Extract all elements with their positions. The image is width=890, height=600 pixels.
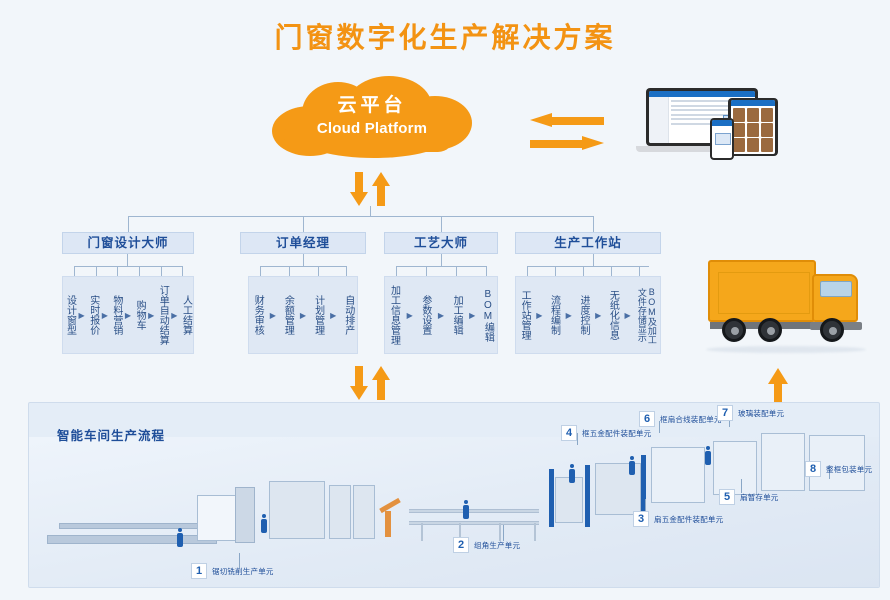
callout-1[interactable]: 1 锯切铣削生产单元 <box>191 563 274 579</box>
separator-icon: ▶ <box>125 277 131 353</box>
connector-line <box>128 216 129 232</box>
module-item[interactable]: 物料营销 <box>111 277 122 353</box>
cloud-platform-node: 云平台 Cloud Platform <box>272 76 472 158</box>
glass-rack <box>713 441 757 495</box>
machine-unit <box>353 485 375 539</box>
worker-figure <box>261 519 267 533</box>
workshop-title: 智能车间生产流程 <box>57 425 165 444</box>
arrow-left-icon <box>530 113 604 128</box>
app-topbar <box>712 120 732 126</box>
module-item[interactable]: 设计窗型 <box>65 277 76 353</box>
separator-icon: ▶ <box>300 277 306 353</box>
module-item[interactable]: 订单自动结算 <box>157 277 168 353</box>
separator-icon: ▶ <box>148 277 154 353</box>
arrow-right-icon <box>530 136 604 151</box>
callout-caption: 框五金配件装配单元 <box>582 428 651 439</box>
connector-line <box>441 216 442 232</box>
callout-7[interactable]: 7 玻璃装配单元 <box>717 405 784 421</box>
machine-unit <box>555 477 583 523</box>
module-title: 门窗设计大师 <box>62 232 194 254</box>
station-post <box>549 469 554 527</box>
machine-unit <box>235 487 255 543</box>
robot-arm <box>385 511 391 537</box>
callout-number: 6 <box>639 411 655 427</box>
module-items: 加工信息管理 ▶ 参数设置 ▶ 加工编辑 ▶ BOM编辑 <box>384 276 498 354</box>
arrow-up-icon <box>372 172 390 206</box>
callout-caption: 组角生产单元 <box>474 540 520 551</box>
separator-icon: ▶ <box>438 277 444 353</box>
module-item-line: 文件存储显示 <box>637 288 647 342</box>
worker-figure <box>463 505 469 519</box>
truck-wheel <box>820 318 844 342</box>
callout-caption: 整框包装单元 <box>826 464 872 475</box>
truck-window <box>820 281 852 297</box>
truck-wheel <box>722 318 746 342</box>
tablet-device <box>728 98 778 156</box>
separator-icon: ▶ <box>469 277 475 353</box>
conveyor <box>409 521 539 525</box>
callout-number: 5 <box>719 489 735 505</box>
callout-5[interactable]: 5 扇暂存单元 <box>719 489 779 505</box>
glass-rack <box>651 447 705 503</box>
connector-line <box>74 266 182 267</box>
separator-icon: ▶ <box>595 277 601 353</box>
module-items: 设计窗型 ▶ 实时报价 ▶ 物料营销 ▶ 购物车 ▶ 订单自动结算 ▶ 人工结算 <box>62 276 194 354</box>
separator-icon: ▶ <box>566 277 572 353</box>
connector-line <box>370 206 371 216</box>
module-order-manager[interactable]: 订单经理 财务审核 ▶ 余额管理 ▶ 计划管理 ▶ 自动排产 <box>240 232 366 254</box>
callout-number: 1 <box>191 563 207 579</box>
module-title: 订单经理 <box>240 232 366 254</box>
separator-icon: ▶ <box>102 277 108 353</box>
conveyor <box>409 509 539 513</box>
delivery-truck <box>700 252 870 364</box>
callout-caption: 玻璃装配单元 <box>738 408 784 419</box>
connector-line <box>303 254 304 266</box>
separator-icon: ▶ <box>270 277 276 353</box>
separator-icon: ▶ <box>407 277 413 353</box>
connector-line <box>303 216 304 232</box>
module-item[interactable]: 流程编制 <box>549 277 560 353</box>
worker-figure <box>705 451 711 465</box>
module-title: 工艺大师 <box>384 232 498 254</box>
arrow-down-icon <box>350 366 368 400</box>
connector-line <box>593 216 594 232</box>
module-item[interactable]: 购物车 <box>134 277 145 353</box>
callout-8[interactable]: 8 整框包装单元 <box>805 461 872 477</box>
module-item[interactable]: 财务审核 <box>252 277 263 353</box>
callout-6[interactable]: 6 框扇合线装配单元 <box>639 411 722 427</box>
module-item[interactable]: 加工编辑 <box>451 277 462 353</box>
module-item[interactable]: 计划管理 <box>313 277 324 353</box>
module-item-line: BOM及加工 <box>647 287 657 344</box>
cloud-label-group: 云平台 Cloud Platform <box>272 94 472 140</box>
phone-device <box>710 118 734 160</box>
machine-rail <box>47 535 217 544</box>
module-item[interactable]: 进度控制 <box>578 277 589 353</box>
module-item[interactable]: 参数设置 <box>420 277 431 353</box>
workshop-panel: 智能车间生产流程 <box>28 402 880 588</box>
connector-line <box>260 266 346 267</box>
glass-rack <box>761 433 805 491</box>
separator-icon: ▶ <box>536 277 542 353</box>
arrow-up-icon <box>372 366 390 400</box>
module-item[interactable]: 文件存储显示BOM及加工 <box>637 277 657 353</box>
worker-figure <box>569 469 575 483</box>
connector-line <box>127 254 128 266</box>
separator-icon: ▶ <box>625 277 631 353</box>
truck-wheel <box>758 318 782 342</box>
tablet-screen <box>731 100 775 154</box>
devices-illustration <box>636 88 788 160</box>
callout-3[interactable]: 3 扇五金配件装配单元 <box>633 511 723 527</box>
arrow-down-icon <box>350 172 368 206</box>
connector-line <box>396 266 486 267</box>
machine-unit <box>269 481 325 539</box>
worker-figure <box>177 533 183 547</box>
module-production-workstation[interactable]: 生产工作站 工作站管理 ▶ 流程编制 ▶ 进度控制 ▶ 无纸化信息 ▶ 文件存储… <box>515 232 661 254</box>
truck-cargo-box <box>708 260 816 322</box>
callout-caption: 锯切铣削生产单元 <box>212 566 274 577</box>
phone-screen <box>712 120 732 158</box>
callout-number: 7 <box>717 405 733 421</box>
connector-line <box>527 266 649 267</box>
module-design-master[interactable]: 门窗设计大师 设计窗型 ▶ 实时报价 ▶ 物料营销 ▶ 购物车 ▶ 订单自动结算… <box>62 232 194 254</box>
cloud-label-cn: 云平台 <box>272 94 472 118</box>
truck-shadow <box>706 346 866 353</box>
connector-line <box>128 216 593 217</box>
module-item[interactable]: 工作站管理 <box>519 277 530 353</box>
worker-figure <box>629 461 635 475</box>
module-title: 生产工作站 <box>515 232 661 254</box>
callout-caption: 扇暂存单元 <box>740 492 779 503</box>
separator-icon: ▶ <box>171 277 177 353</box>
module-item[interactable]: 余额管理 <box>282 277 293 353</box>
machine-rail <box>59 523 209 529</box>
module-item[interactable]: BOM编辑 <box>482 277 493 353</box>
module-process-master[interactable]: 工艺大师 加工信息管理 ▶ 参数设置 ▶ 加工编辑 ▶ BOM编辑 <box>384 232 498 254</box>
cloud-label-en: Cloud Platform <box>272 118 472 140</box>
separator-icon: ▶ <box>330 277 336 353</box>
callout-caption: 框扇合线装配单元 <box>660 414 722 425</box>
app-topbar <box>731 100 775 106</box>
callout-number: 2 <box>453 537 469 553</box>
machine-cabinet <box>197 495 239 541</box>
station-post <box>585 465 590 527</box>
connector-line <box>593 254 594 266</box>
module-items: 财务审核 ▶ 余额管理 ▶ 计划管理 ▶ 自动排产 <box>248 276 358 354</box>
solution-diagram: 门窗数字化生产解决方案 云平台 Cloud Platform <box>0 0 890 600</box>
module-item[interactable]: 实时报价 <box>88 277 99 353</box>
truck-cab <box>812 274 858 322</box>
callout-4[interactable]: 4 框五金配件装配单元 <box>561 425 651 441</box>
connector-line <box>441 254 442 266</box>
module-items: 工作站管理 ▶ 流程编制 ▶ 进度控制 ▶ 无纸化信息 ▶ 文件存储显示BOM及… <box>515 276 661 354</box>
product-thumbnail-grid <box>733 108 773 152</box>
module-item[interactable]: 无纸化信息 <box>607 277 618 353</box>
module-item[interactable]: 人工结算 <box>180 277 191 353</box>
callout-number: 3 <box>633 511 649 527</box>
separator-icon: ▶ <box>79 277 85 353</box>
callout-2[interactable]: 2 组角生产单元 <box>453 537 520 553</box>
module-item[interactable]: 自动排产 <box>343 277 354 353</box>
app-sidebar <box>649 97 669 143</box>
callout-number: 8 <box>805 461 821 477</box>
callout-number: 4 <box>561 425 577 441</box>
phone-card <box>715 133 731 145</box>
module-item[interactable]: 加工信息管理 <box>389 277 400 353</box>
callout-caption: 扇五金配件装配单元 <box>654 514 723 525</box>
machine-unit <box>329 485 351 539</box>
page-title: 门窗数字化生产解决方案 <box>0 16 890 56</box>
